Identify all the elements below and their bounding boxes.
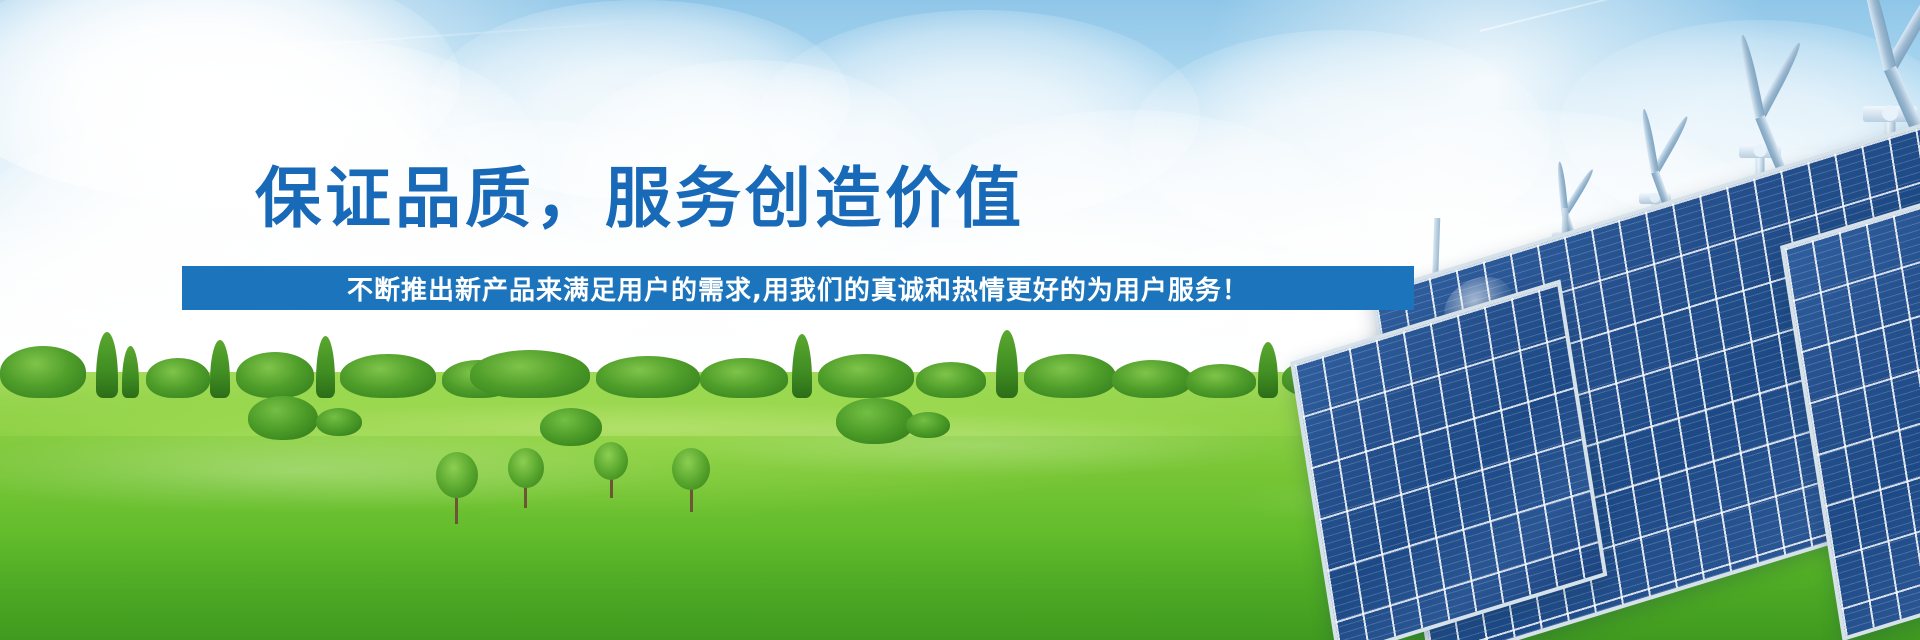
bush: [836, 398, 914, 444]
sapling-foliage: [594, 442, 628, 480]
subtitle-bar: 不断推出新产品来满足用户的需求,用我们的真诚和热情更好的为用户服务！: [182, 266, 1414, 310]
wind-turbine: [1800, 62, 1920, 436]
sapling-foliage: [672, 448, 710, 490]
page-title: 保证品质，服务创造价值: [0, 166, 1280, 232]
sapling-foliage: [508, 448, 544, 488]
bush: [248, 396, 318, 440]
promo-banner: 保证品质，服务创造价值 不断推出新产品来满足用户的需求,用我们的真诚和热情更好的…: [0, 0, 1920, 640]
sapling-foliage: [436, 452, 478, 498]
bush: [906, 412, 950, 438]
subtitle-text: 不断推出新产品来满足用户的需求,用我们的真诚和热情更好的为用户服务！: [347, 270, 1249, 307]
bush: [540, 408, 602, 446]
wind-turbine: [1520, 210, 1610, 436]
bush: [316, 408, 362, 436]
